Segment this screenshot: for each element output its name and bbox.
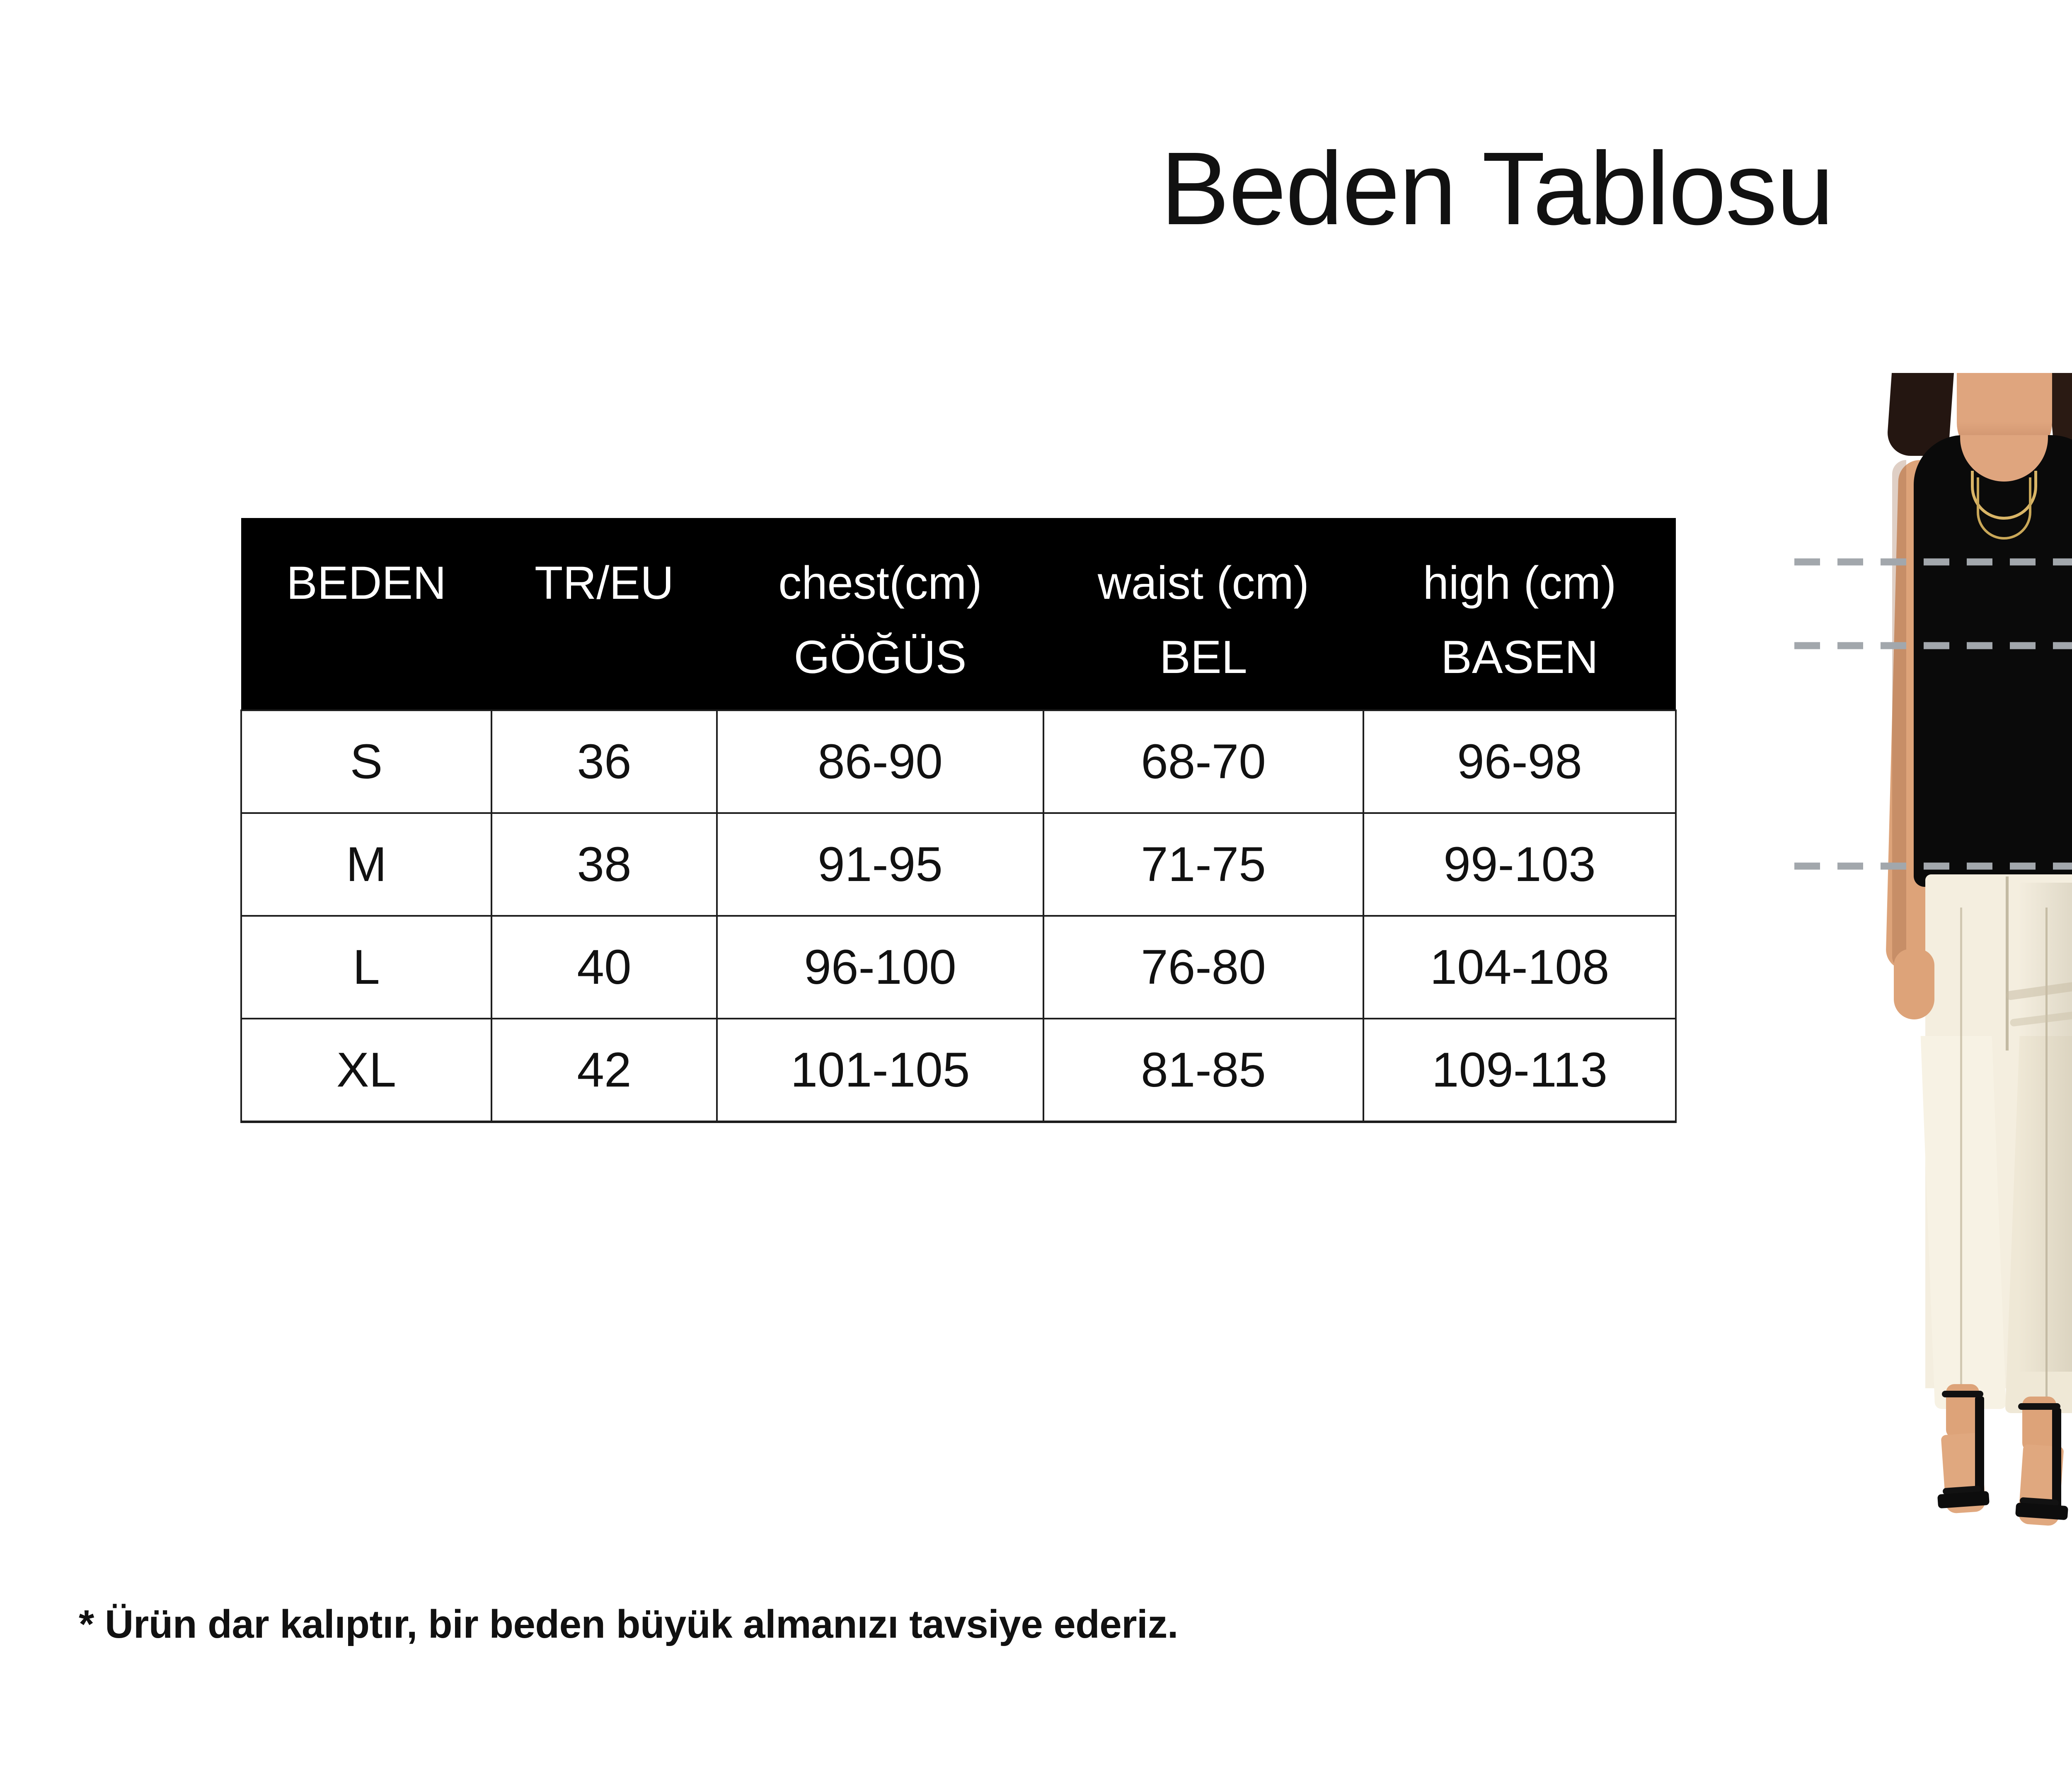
col-subheader-bel: BEL (1043, 622, 1363, 710)
size-chart-page: Beden Tablosu BEDEN TR/EU chest(cm) wais… (0, 0, 2072, 1784)
col-header-waist: waist (cm) (1043, 518, 1363, 622)
model-trouser-center-seam (2006, 876, 2009, 1051)
page-title: Beden Tablosu (0, 137, 2072, 240)
table-row: XL 42 101-105 81-85 109-113 (241, 1019, 1676, 1122)
cell-beden: S (241, 710, 491, 813)
cell-high: 104-108 (1363, 916, 1676, 1019)
waist-measure-arrow-icon (1794, 637, 2072, 654)
size-table-head: BEDEN TR/EU chest(cm) waist (cm) high (c… (241, 518, 1676, 710)
table-row: M 38 91-95 71-75 99-103 (241, 813, 1676, 916)
col-header-beden: BEDEN (241, 518, 491, 622)
cell-treu: 42 (491, 1019, 717, 1122)
size-table: BEDEN TR/EU chest(cm) waist (cm) high (c… (240, 518, 1677, 1123)
model-arm-left-shading (1892, 460, 1906, 970)
hip-measure-arrow-icon (1794, 858, 2072, 874)
table-row: S 36 86-90 68-70 96-98 (241, 710, 1676, 813)
cell-treu: 40 (491, 916, 717, 1019)
table-header-row-primary: BEDEN TR/EU chest(cm) waist (cm) high (c… (241, 518, 1676, 622)
cell-beden: M (241, 813, 491, 916)
col-header-treu: TR/EU (491, 518, 717, 622)
model-hand-left (1894, 949, 1934, 1019)
col-subheader-basen: BASEN (1363, 622, 1676, 710)
fit-advice-note: * Ürün dar kalıptır, bir beden büyük alm… (79, 1602, 1178, 1647)
model-trouser-crease-left (1960, 908, 1962, 1401)
cell-beden: XL (241, 1019, 491, 1122)
cell-beden: L (241, 916, 491, 1019)
cell-treu: 38 (491, 813, 717, 916)
cell-high: 96-98 (1363, 710, 1676, 813)
sandal-heel-right-icon (2052, 1408, 2061, 1513)
model-trouser-shading (2018, 883, 2072, 1372)
sandal-ankle-strap-right-icon (2018, 1403, 2060, 1410)
cell-chest: 91-95 (717, 813, 1043, 916)
cell-chest: 101-105 (717, 1019, 1043, 1122)
table-header-row-secondary: GÖĞÜS BEL BASEN (241, 622, 1676, 710)
col-subheader-gogus: GÖĞÜS (717, 622, 1043, 710)
chest-measure-arrow-icon (1794, 554, 2072, 570)
model-trouser-crease-right (2045, 908, 2048, 1401)
size-table-body: S 36 86-90 68-70 96-98 M 38 91-95 71-75 … (241, 710, 1676, 1122)
cell-treu: 36 (491, 710, 717, 813)
cell-high: 99-103 (1363, 813, 1676, 916)
sandal-ankle-strap-left-icon (1942, 1391, 1983, 1397)
model-photo (1811, 373, 2072, 1546)
cell-chest: 86-90 (717, 710, 1043, 813)
cell-waist: 68-70 (1043, 710, 1363, 813)
cell-waist: 81-85 (1043, 1019, 1363, 1122)
col-header-chest: chest(cm) (717, 518, 1043, 622)
col-header-high: high (cm) (1363, 518, 1676, 622)
cell-high: 109-113 (1363, 1019, 1676, 1122)
cell-chest: 96-100 (717, 916, 1043, 1019)
sandal-heel-left-icon (1975, 1397, 1984, 1500)
necklace-second-strand-icon (1977, 477, 2031, 540)
table-row: L 40 96-100 76-80 104-108 (241, 916, 1676, 1019)
col-subheader-beden (241, 622, 491, 710)
col-subheader-treu (491, 622, 717, 710)
model-trouser-leg-left (1921, 1036, 2007, 1409)
cell-waist: 76-80 (1043, 916, 1363, 1019)
cell-waist: 71-75 (1043, 813, 1363, 916)
